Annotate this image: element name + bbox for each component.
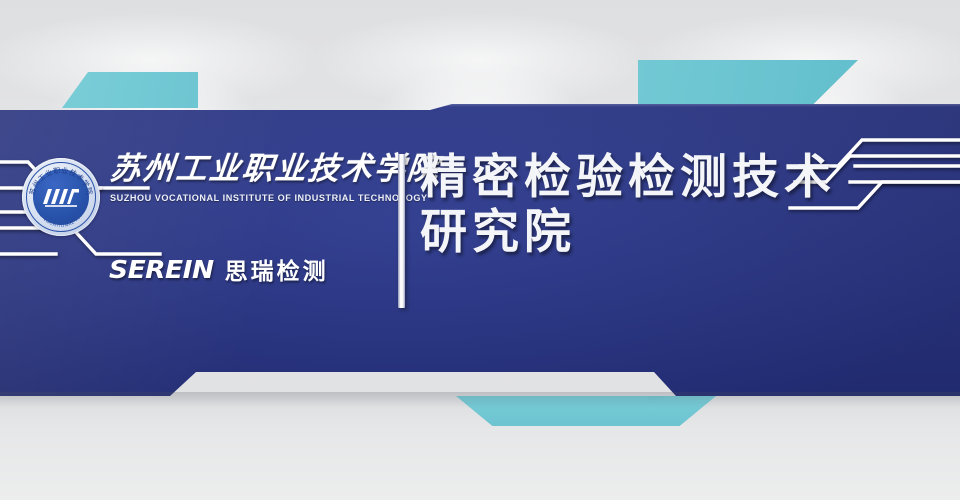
- serein-wordmark: SEREIN: [109, 255, 214, 284]
- university-name-cn: 苏州工业职业技术学院: [108, 152, 392, 188]
- brand-column: 苏州工业职业技术学院 SUZHOU VOCATIONAL INSTITUTE 苏…: [14, 152, 386, 312]
- board-content: 苏州工业职业技术学院 SUZHOU VOCATIONAL INSTITUTE 苏…: [0, 104, 960, 396]
- university-emblem: 苏州工业职业技术学院 SUZHOU VOCATIONAL INSTITUTE: [22, 158, 100, 236]
- emblem-monogram-icon: [41, 186, 81, 208]
- partner-brand-row: SEREIN 思瑞检测: [112, 252, 329, 286]
- vertical-divider-bar: [398, 154, 405, 308]
- institute-title: 精密检验检测技术 研究院: [420, 150, 950, 261]
- university-name-en: SUZHOU VOCATIONAL INSTITUTE OF INDUSTRIA…: [110, 193, 390, 203]
- institute-title-line1: 精密检验检测技术: [420, 150, 950, 205]
- serein-name-cn: 思瑞检测: [225, 252, 329, 286]
- signage-scene: 苏州工业职业技术学院 SUZHOU VOCATIONAL INSTITUTE 苏…: [0, 0, 960, 500]
- brand-text-block: 苏州工业职业技术学院 SUZHOU VOCATIONAL INSTITUTE O…: [110, 152, 390, 203]
- emblem-core: [33, 169, 89, 225]
- institute-title-line2: 研究院: [420, 205, 950, 260]
